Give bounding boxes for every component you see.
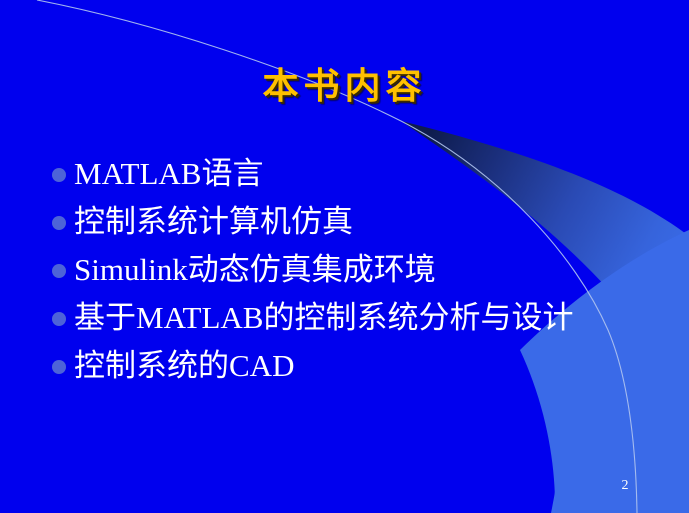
list-item: 控制系统的CAD <box>52 342 682 390</box>
list-item-label: 控制系统的CAD <box>74 348 682 384</box>
list-item-label: Simulink动态仿真集成环境 <box>74 252 682 288</box>
slide-title: 本书内容 <box>0 57 689 109</box>
filled-circle-bullet-icon <box>52 216 66 230</box>
list-item-label: 控制系统计算机仿真 <box>74 204 682 240</box>
list-item: MATLAB语言 <box>52 150 682 198</box>
filled-circle-bullet-icon <box>52 360 66 374</box>
list-item: Simulink动态仿真集成环境 <box>52 246 682 294</box>
presentation-slide: 本书内容 MATLAB语言 控制系统计算机仿真 Simulink动态仿真集成环境… <box>0 0 689 513</box>
list-item-label: MATLAB语言 <box>74 156 682 192</box>
filled-circle-bullet-icon <box>52 312 66 326</box>
filled-circle-bullet-icon <box>52 168 66 182</box>
page-number: 2 <box>612 478 638 494</box>
list-item: 控制系统计算机仿真 <box>52 198 682 246</box>
list-item: 基于MATLAB的控制系统分析与设计 <box>52 294 682 342</box>
filled-circle-bullet-icon <box>52 264 66 278</box>
list-item-label: 基于MATLAB的控制系统分析与设计 <box>74 300 682 336</box>
bullet-list: MATLAB语言 控制系统计算机仿真 Simulink动态仿真集成环境 基于MA… <box>52 150 682 390</box>
